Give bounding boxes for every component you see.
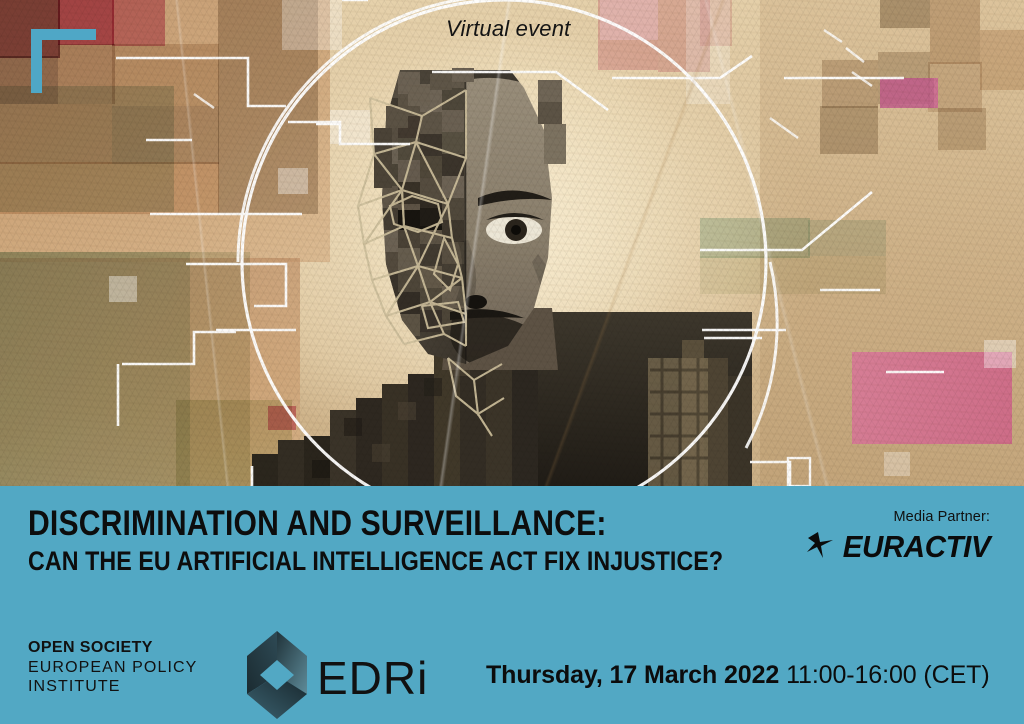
event-poster: Virtual event DISCRIMINATION AND SURVEIL… xyxy=(0,0,1024,724)
corner-bracket-decoration xyxy=(31,29,96,93)
virtual-event-label: Virtual event xyxy=(446,16,571,42)
hero-collage-image: Virtual event xyxy=(0,0,1024,486)
media-partner-block: Media Partner: EURACTIV xyxy=(806,509,990,565)
osepi-line-1: OPEN SOCIETY xyxy=(28,638,197,658)
euractiv-logo[interactable]: EURACTIV xyxy=(806,529,990,565)
star-swoosh-icon xyxy=(806,530,834,560)
edri-hex-diamond-icon xyxy=(246,630,308,720)
headline-line-1: DISCRIMINATION AND SURVEILLANCE: xyxy=(28,506,723,542)
event-headline: DISCRIMINATION AND SURVEILLANCE: CAN THE… xyxy=(28,506,836,577)
euractiv-wordmark: EURACTIV xyxy=(842,529,990,565)
open-society-logo: OPEN SOCIETY EUROPEAN POLICY INSTITUTE xyxy=(28,638,197,697)
edri-diamond-icon xyxy=(246,630,308,724)
event-time: 11:00-16:00 (CET) xyxy=(779,661,989,689)
media-partner-label: Media Partner: xyxy=(806,509,990,525)
edri-wordmark: EDRi xyxy=(317,655,428,701)
surveillance-overlay xyxy=(0,0,1024,486)
circuit-lines xyxy=(116,0,944,486)
osepi-line-3: INSTITUTE xyxy=(28,677,197,697)
event-date: Thursday, 17 March 2022 xyxy=(486,661,779,689)
euractiv-star-icon xyxy=(806,530,834,565)
reticle-arc-lower-right xyxy=(746,262,777,448)
event-dateline: Thursday, 17 March 2022 11:00-16:00 (CET… xyxy=(486,661,990,690)
edri-logo[interactable]: EDRi xyxy=(246,630,428,724)
headline-line-2: CAN THE EU ARTIFICIAL INTELLIGENCE ACT F… xyxy=(28,545,723,577)
osepi-line-2: EUROPEAN POLICY xyxy=(28,658,197,678)
